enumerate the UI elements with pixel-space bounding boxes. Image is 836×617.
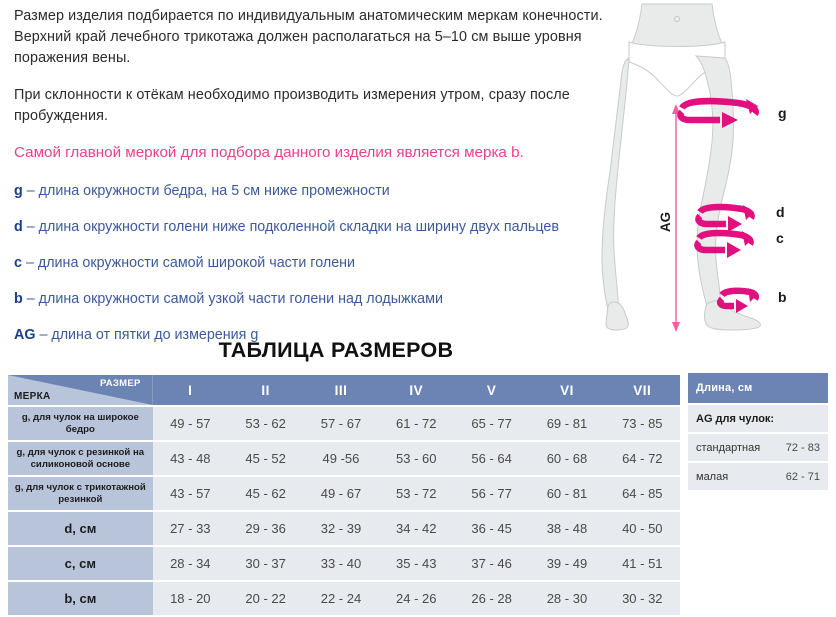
table-cell: 56 - 77 <box>454 477 529 510</box>
table-cell: 29 - 36 <box>228 512 303 545</box>
table-cell: 49 -56 <box>303 442 378 475</box>
length-row-label: малая <box>696 471 786 483</box>
table-cell: 61 - 72 <box>379 407 454 440</box>
table-cell: 32 - 39 <box>303 512 378 545</box>
intro-paragraph-1: Размер изделия подбирается по индивидуал… <box>14 6 609 69</box>
table-cell: 37 - 46 <box>454 547 529 580</box>
definition-key: c <box>14 255 22 271</box>
table-cell: 34 - 42 <box>379 512 454 545</box>
table-cell: 43 - 57 <box>153 477 228 510</box>
table-cell: 60 - 81 <box>529 477 604 510</box>
table-row: d, см 27 - 33 29 - 36 32 - 39 34 - 42 36… <box>8 512 680 545</box>
table-cell: 33 - 40 <box>303 547 378 580</box>
row-label: d, см <box>8 512 153 545</box>
table-cell: 28 - 30 <box>529 582 604 615</box>
table-cell: 18 - 20 <box>153 582 228 615</box>
row-label: b, см <box>8 582 153 615</box>
definition-item-d: d – длина окружности голени ниже подколе… <box>14 218 609 236</box>
illustration-label-g: g <box>778 105 787 121</box>
table-cell: 24 - 26 <box>379 582 454 615</box>
table-cell: 69 - 81 <box>529 407 604 440</box>
illustration-label-d: d <box>776 204 785 220</box>
definition-key: d <box>14 219 23 235</box>
table-cell: 53 - 62 <box>228 407 303 440</box>
table-cell: 38 - 48 <box>529 512 604 545</box>
size-column-header-7: VII <box>605 375 680 405</box>
definition-text: длина окружности самой узкой части голен… <box>39 291 443 307</box>
highlight-note: Самой главной меркой для подбора данного… <box>14 142 609 164</box>
table-cell: 56 - 64 <box>454 442 529 475</box>
definition-text: длина окружности бедра, на 5 см ниже про… <box>39 183 390 199</box>
definition-key: b <box>14 291 23 307</box>
table-cell: 28 - 34 <box>153 547 228 580</box>
size-column-header-6: VI <box>529 375 604 405</box>
definition-item-g: g – длина окружности бедра, на 5 см ниже… <box>14 182 609 200</box>
row-label: c, см <box>8 547 153 580</box>
length-panel: Длина, см AG для чулок: стандартная 72 -… <box>688 373 828 490</box>
ag-dimension-arrow <box>672 104 680 332</box>
intro-section: Размер изделия подбирается по индивидуал… <box>0 0 836 333</box>
table-cell: 27 - 33 <box>153 512 228 545</box>
table-cell: 30 - 32 <box>605 582 680 615</box>
table-cell: 36 - 45 <box>454 512 529 545</box>
table-cell: 73 - 85 <box>605 407 680 440</box>
body-silhouette-icon <box>602 4 760 330</box>
definition-dash: – <box>27 219 35 235</box>
table-cell: 20 - 22 <box>228 582 303 615</box>
illustration-label-b: b <box>778 289 787 305</box>
size-table: РАЗМЕР МЕРКА I II III IV V VI VII g, для… <box>8 373 680 617</box>
table-row: c, см 28 - 34 30 - 37 33 - 40 35 - 43 37… <box>8 547 680 580</box>
definition-text: длина окружности голени ниже подколенной… <box>39 219 559 235</box>
table-cell: 22 - 24 <box>303 582 378 615</box>
table-cell: 40 - 50 <box>605 512 680 545</box>
size-column-header-2: II <box>228 375 303 405</box>
definition-key: g <box>14 183 23 199</box>
intro-paragraph-2: При склонности к отёкам необходимо произ… <box>14 85 609 127</box>
table-row: g, для чулок с трикотажной резинкой 43 -… <box>8 477 680 510</box>
corner-merka-label: МЕРКА <box>14 391 51 402</box>
table-cell: 64 - 85 <box>605 477 680 510</box>
length-panel-row-standard: стандартная 72 - 83 <box>688 434 828 461</box>
table-header-row: РАЗМЕР МЕРКА I II III IV V VI VII <box>8 375 680 405</box>
table-cell: 43 - 48 <box>153 442 228 475</box>
text-column: Размер изделия подбирается по индивидуал… <box>14 6 609 362</box>
definition-dash: – <box>27 183 35 199</box>
table-cell: 60 - 68 <box>529 442 604 475</box>
table-cell: 35 - 43 <box>379 547 454 580</box>
header-corner-cell: РАЗМЕР МЕРКА <box>8 375 153 405</box>
length-row-label: стандартная <box>696 442 786 454</box>
definition-dash: – <box>26 255 34 271</box>
row-label: g, для чулок на широкое бедро <box>8 407 153 440</box>
corner-size-label: РАЗМЕР <box>100 378 141 389</box>
table-cell: 41 - 51 <box>605 547 680 580</box>
size-column-header-1: I <box>153 375 228 405</box>
row-label: g, для чулок с трикотажной резинкой <box>8 477 153 510</box>
definition-item-c: c – длина окружности самой широкой части… <box>14 254 609 272</box>
measurement-definitions-list: g – длина окружности бедра, на 5 см ниже… <box>14 182 609 344</box>
table-cell: 26 - 28 <box>454 582 529 615</box>
table-row: g, для чулок на широкое бедро 49 - 57 53… <box>8 407 680 440</box>
ag-label: AG <box>658 212 673 232</box>
length-panel-header: Длина, см <box>688 373 828 403</box>
table-row: b, см 18 - 20 20 - 22 22 - 24 24 - 26 26… <box>8 582 680 615</box>
table-cell: 53 - 60 <box>379 442 454 475</box>
length-panel-row-title: AG для чулок: <box>688 405 828 432</box>
definition-text: длина окружности самой широкой части гол… <box>38 255 355 271</box>
illustration-label-c: c <box>776 230 784 246</box>
page-title: ТАБЛИЦА РАЗМЕРОВ <box>0 338 672 363</box>
table-cell: 65 - 77 <box>454 407 529 440</box>
definition-dash: – <box>27 291 35 307</box>
table-cell: 64 - 72 <box>605 442 680 475</box>
length-row-value: 62 - 71 <box>786 471 820 483</box>
length-row-label: AG для чулок: <box>696 413 820 425</box>
definition-item-b: b – длина окружности самой узкой части г… <box>14 290 609 308</box>
table-cell: 57 - 67 <box>303 407 378 440</box>
size-column-header-3: III <box>303 375 378 405</box>
length-row-value: 72 - 83 <box>786 442 820 454</box>
table-cell: 45 - 52 <box>228 442 303 475</box>
table-cell: 30 - 37 <box>228 547 303 580</box>
row-label: g, для чулок с резинкой на силиконовой о… <box>8 442 153 475</box>
table-row: g, для чулок с резинкой на силиконовой о… <box>8 442 680 475</box>
leg-measurement-illustration: AG <box>600 0 836 340</box>
table-cell: 49 - 67 <box>303 477 378 510</box>
table-cell: 45 - 62 <box>228 477 303 510</box>
length-panel-row-small: малая 62 - 71 <box>688 463 828 490</box>
size-column-header-5: V <box>454 375 529 405</box>
table-cell: 49 - 57 <box>153 407 228 440</box>
size-column-header-4: IV <box>379 375 454 405</box>
table-cell: 39 - 49 <box>529 547 604 580</box>
table-cell: 53 - 72 <box>379 477 454 510</box>
